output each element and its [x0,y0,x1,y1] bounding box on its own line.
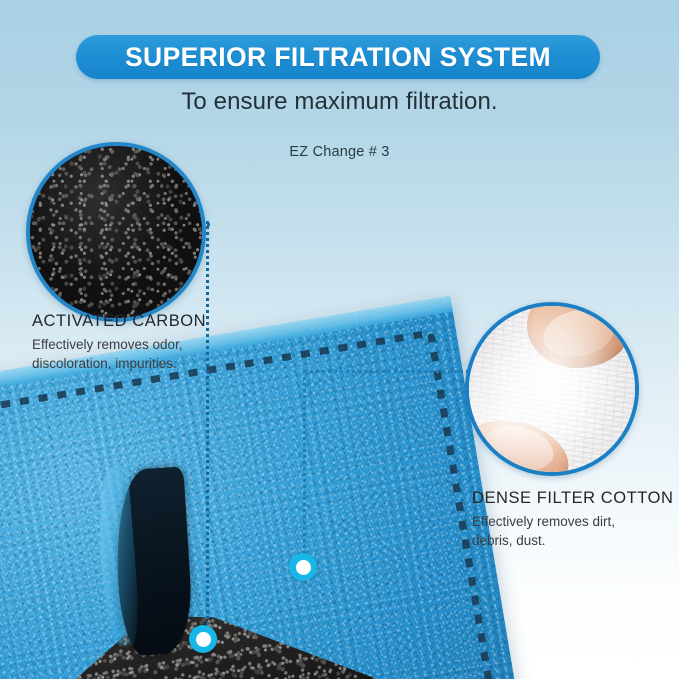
cotton-fluff-overlay [469,306,635,472]
cotton-connector-horizontal [303,370,475,373]
activated-carbon-body: Effectively removes odor, discoloration,… [32,335,183,373]
carbon-highlight [30,146,202,318]
cotton-marker-dot [289,553,317,581]
dense-filter-cotton-swatch [465,302,639,476]
dense-filter-cotton-title: DENSE FILTER COTTON [472,489,673,508]
page-subtitle: To ensure maximum filtration. [0,88,679,116]
dense-filter-cotton-body-line1: Effectively removes dirt, [472,512,615,531]
activated-carbon-title: ACTIVATED CARBON [32,312,206,331]
cotton-connector-vertical [303,370,306,560]
dense-filter-cotton-body-line2: debris, dust. [472,531,615,550]
activated-carbon-body-line2: discoloration, impurities. [32,354,183,373]
dense-filter-cotton-body: Effectively removes dirt, debris, dust. [472,512,615,550]
page-title: SUPERIOR FILTRATION SYSTEM [125,42,551,73]
carbon-connector-vertical [206,221,209,631]
infographic-canvas: SUPERIOR FILTRATION SYSTEM To ensure max… [0,0,679,679]
header-title-pill: SUPERIOR FILTRATION SYSTEM [76,35,600,79]
activated-carbon-swatch [26,142,206,322]
carbon-marker-dot [189,625,217,653]
activated-carbon-body-line1: Effectively removes odor, [32,335,183,354]
